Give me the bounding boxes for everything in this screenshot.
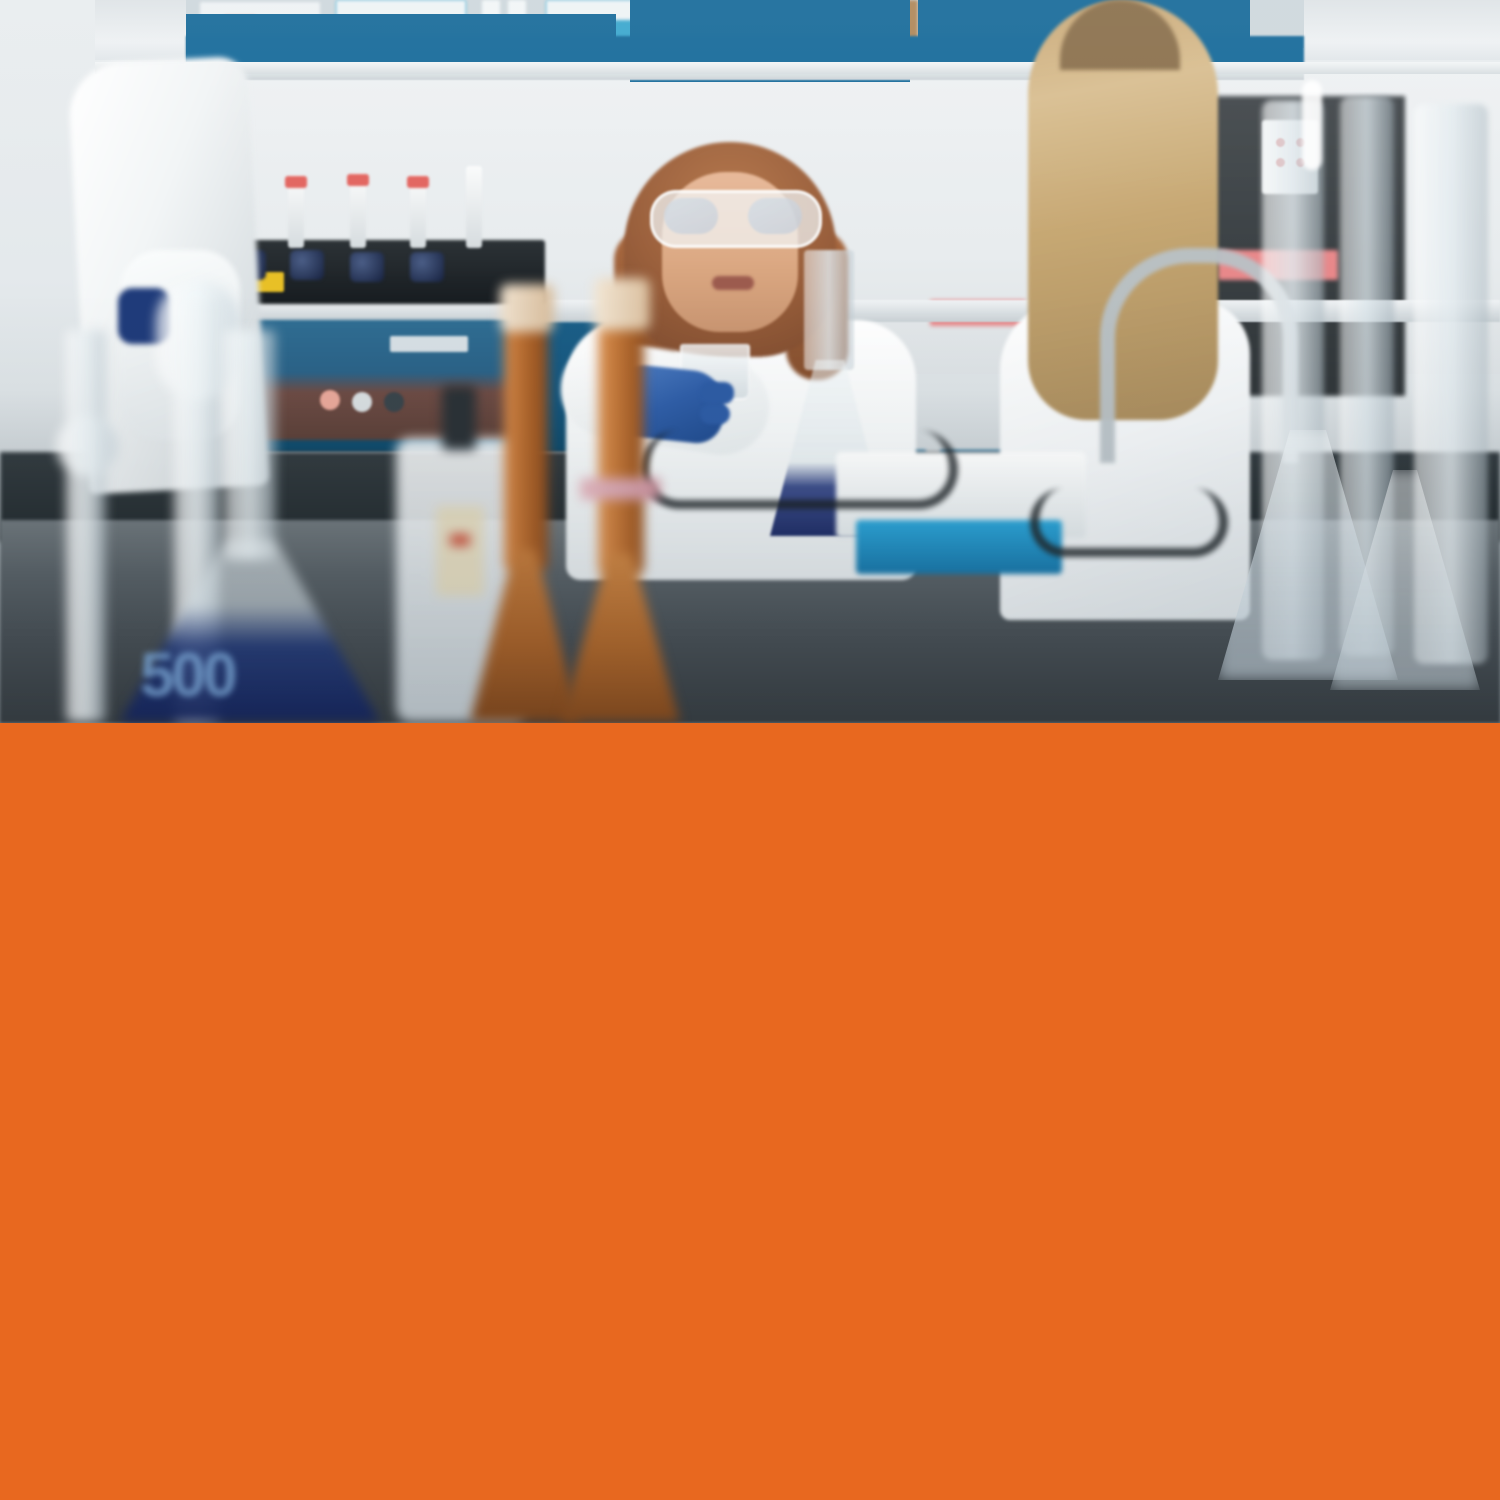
laboratory-photo: 500 bbox=[0, 0, 1500, 723]
photo-haze-overlay bbox=[0, 0, 1500, 723]
marketing-infographic: 500 THERE IS A FINE LINE BETWEEN PASSION… bbox=[0, 0, 1500, 1500]
orange-text-panel: THERE IS A FINE LINE BETWEEN PASSION AND… bbox=[0, 723, 1500, 1500]
